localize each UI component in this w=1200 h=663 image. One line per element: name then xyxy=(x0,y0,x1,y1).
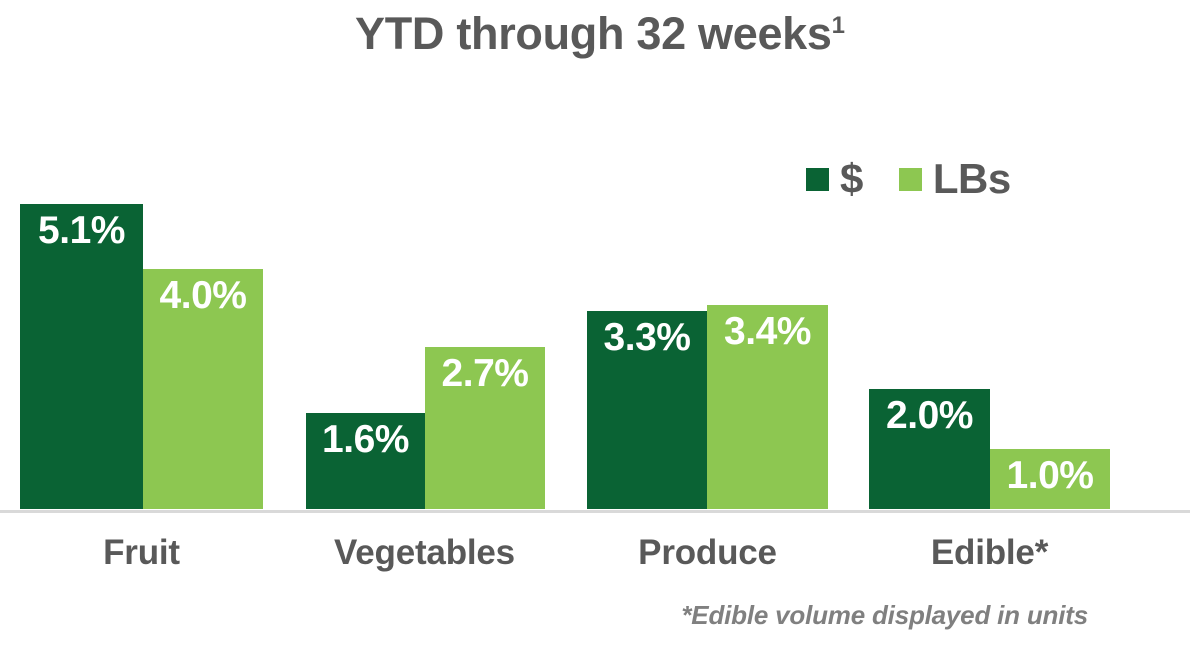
category-label-edible: Edible* xyxy=(868,533,1111,573)
bar-value-label: 4.0% xyxy=(143,275,263,317)
bar-fruit-dollars[interactable]: 5.1% xyxy=(20,204,143,509)
category-label-fruit: Fruit xyxy=(20,533,263,573)
bar-fruit-lbs[interactable]: 4.0% xyxy=(143,269,263,509)
bar-value-label: 2.7% xyxy=(425,353,545,395)
category-label-vegetables: Vegetables xyxy=(303,533,546,573)
bar-edible-dollars[interactable]: 2.0% xyxy=(869,389,990,509)
bar-value-label: 1.6% xyxy=(306,419,425,461)
category-axis-line xyxy=(0,510,1190,513)
bar-produce-lbs[interactable]: 3.4% xyxy=(707,305,828,509)
category-label-produce: Produce xyxy=(586,533,829,573)
chart-plot-area: 5.1%4.0%1.6%2.7%3.3%3.4%2.0%1.0% FruitVe… xyxy=(0,0,1200,663)
bar-value-label: 2.0% xyxy=(869,395,990,437)
bar-vegetables-lbs[interactable]: 2.7% xyxy=(425,347,545,509)
chart-footnote: *Edible volume displayed in units xyxy=(681,600,1088,631)
bar-value-label: 5.1% xyxy=(20,210,143,252)
bar-value-label: 3.3% xyxy=(587,317,707,359)
bar-value-label: 3.4% xyxy=(707,311,828,353)
bar-produce-dollars[interactable]: 3.3% xyxy=(587,311,707,509)
bar-edible-lbs[interactable]: 1.0% xyxy=(990,449,1110,509)
bar-value-label: 1.0% xyxy=(990,455,1110,497)
slide-canvas: YTD through 32 weeks1 $ LBs 5.1%4.0%1.6%… xyxy=(0,0,1200,663)
bar-vegetables-dollars[interactable]: 1.6% xyxy=(306,413,425,509)
